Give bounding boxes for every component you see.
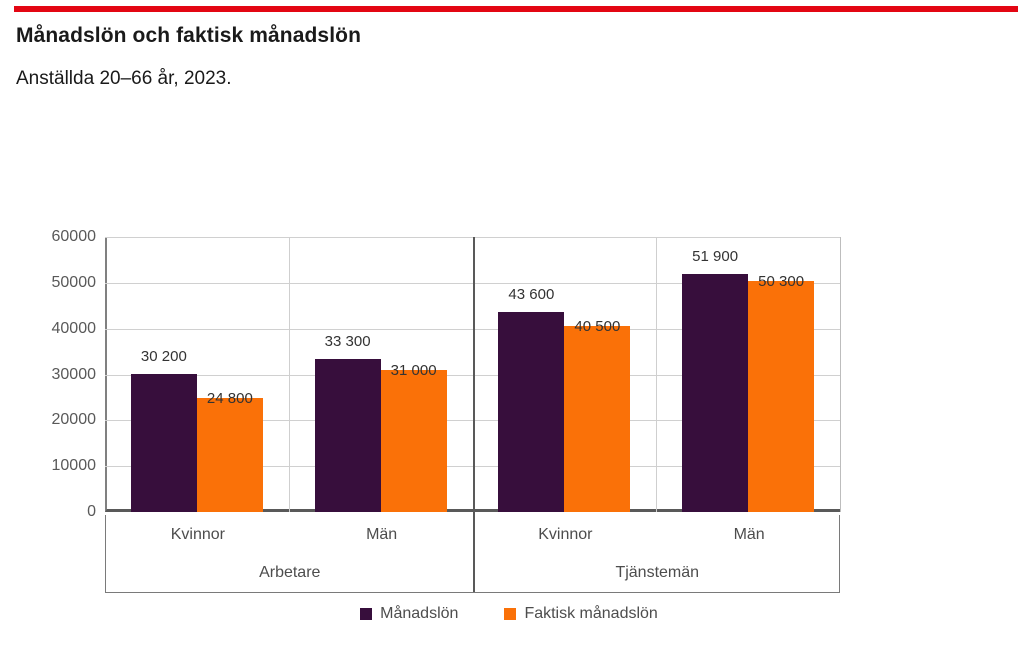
- bar-value-label: 51 900: [692, 248, 738, 265]
- bar-value-label: 33 300: [325, 333, 371, 350]
- y-axis-tick-label: 30000: [12, 366, 96, 384]
- bar-value-label: 43 600: [508, 286, 554, 303]
- bar-månadslön-1[interactable]: [315, 359, 381, 512]
- category-label: Kvinnor: [106, 517, 290, 553]
- bar-value-label: 30 200: [141, 348, 187, 365]
- category-label: Män: [657, 517, 841, 553]
- bar-faktisk-månadslön-2[interactable]: [564, 326, 630, 512]
- gridline-vertical: [840, 237, 841, 512]
- bar-value-label: 31 000: [391, 362, 437, 379]
- bar-value-label: 50 300: [758, 273, 804, 290]
- legend-label: Faktisk månadslön: [524, 605, 657, 623]
- page-title: Månadslön och faktisk månadslön: [16, 24, 361, 48]
- chart-legend: MånadslönFaktisk månadslön: [0, 605, 1018, 623]
- bar-value-label: 40 500: [574, 318, 620, 335]
- category-label: Män: [290, 517, 474, 553]
- chart-page: Månadslön och faktisk månadslön Anställd…: [0, 0, 1018, 654]
- legend-item[interactable]: Faktisk månadslön: [504, 605, 657, 623]
- y-axis-tick-label: 10000: [12, 457, 96, 475]
- bar-value-label: 24 800: [207, 390, 253, 407]
- y-axis-tick-label: 50000: [12, 274, 96, 292]
- gridline-vertical: [656, 237, 657, 512]
- legend-swatch-icon: [504, 608, 516, 620]
- y-axis-tick-label: 20000: [12, 411, 96, 429]
- y-axis-tick-label: 0: [12, 503, 96, 521]
- bar-faktisk-månadslön-1[interactable]: [381, 370, 447, 512]
- category-group-label: Arbetare: [106, 555, 474, 591]
- bar-faktisk-månadslön-3[interactable]: [748, 281, 814, 512]
- legend-label: Månadslön: [380, 605, 458, 623]
- y-axis-tick-label: 60000: [12, 228, 96, 246]
- page-subtitle: Anställda 20–66 år, 2023.: [16, 68, 232, 90]
- top-accent-rule: [14, 6, 1018, 12]
- bar-månadslön-0[interactable]: [131, 374, 197, 512]
- y-axis-tick-label: 40000: [12, 320, 96, 338]
- legend-item[interactable]: Månadslön: [360, 605, 458, 623]
- bar-månadslön-2[interactable]: [498, 312, 564, 512]
- y-axis-tick-labels: 0100002000030000400005000060000: [12, 237, 96, 512]
- category-axis-band: KvinnorMänKvinnorMänArbetareTjänstemän: [105, 515, 840, 593]
- bar-månadslön-3[interactable]: [682, 274, 748, 512]
- gridline-vertical: [289, 237, 290, 512]
- bar-faktisk-månadslön-0[interactable]: [197, 398, 263, 512]
- category-label: Kvinnor: [474, 517, 658, 553]
- legend-swatch-icon: [360, 608, 372, 620]
- category-group-label: Tjänstemän: [474, 555, 842, 591]
